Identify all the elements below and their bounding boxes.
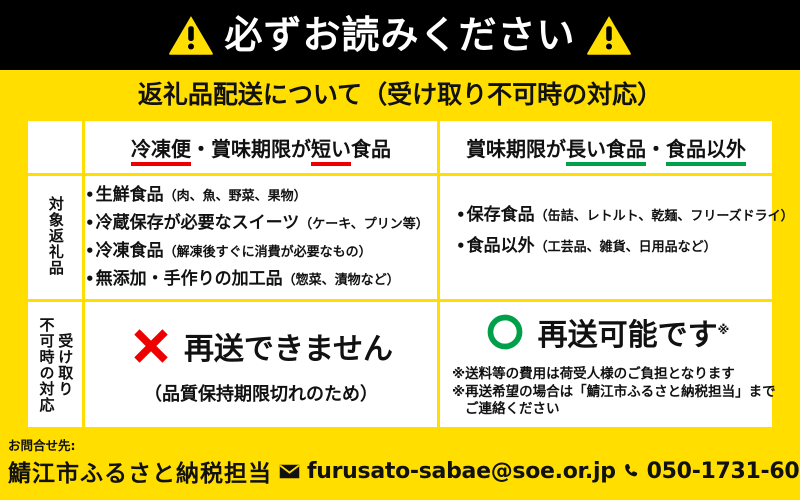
- contact-label: お問合せ先:: [8, 438, 800, 453]
- contact-details: 鯖江市ふるさと納税担当 furusato-sabae@soe.or.jp 050…: [8, 454, 800, 488]
- table-row: 受け取り 不可時の対応 再送できません （品質保持期限切れのため）: [27, 301, 774, 429]
- target-items-right-list: 保存食品（缶詰、レトルト、乾麺、フリーズドライ） 食品以外（工芸品、雑貨、日用品…: [456, 207, 772, 255]
- target-items-left-cell: 生鮮食品（肉、魚、野菜、果物） 冷蔵保存が必要なスイーツ（ケーキ、プリン等） 冷…: [84, 175, 439, 301]
- list-item-main: 冷蔵保存が必要なスイーツ: [96, 213, 300, 233]
- list-item: 冷蔵保存が必要なスイーツ（ケーキ、プリン等）: [85, 215, 437, 232]
- circle-mark-icon: [483, 310, 527, 354]
- envelope-icon: [279, 464, 300, 479]
- list-item: 無添加・手作りの加工品（惣菜、漬物など）: [85, 271, 437, 288]
- result-right-headline-text: 再送可能です: [538, 318, 718, 353]
- list-item-main: 食品以外: [467, 236, 535, 256]
- list-item-main: 無添加・手作りの加工品: [96, 269, 283, 289]
- info-table: 冷凍便・賞味期限が短い食品 賞味期限が長い食品・食品以外 対象返礼品 生鮮食品（…: [25, 118, 775, 430]
- column-header-right-seg3: ・: [646, 137, 666, 161]
- table-row: 対象返礼品 生鮮食品（肉、魚、野菜、果物） 冷蔵保存が必要なスイーツ（ケーキ、プ…: [27, 175, 774, 301]
- column-header-left-text: 冷凍便・賞味期限が短い食品: [131, 137, 391, 166]
- list-item-main: 冷凍食品: [96, 241, 164, 261]
- result-left-headline: 再送できません: [184, 324, 393, 368]
- list-item-detail: （解凍後すぐに消費が必要なもの）: [164, 245, 372, 260]
- list-item-detail: （缶詰、レトルト、乾麺、フリーズドライ）: [535, 209, 794, 224]
- sub-banner: 返礼品配送について（受け取り不可時の対応）: [0, 70, 800, 115]
- poster-root: 必ずお読みください 返礼品配送について（受け取り不可時の対応） 冷凍便・賞味期限: [0, 0, 800, 500]
- result-right-cell: 再送可能です※ ※送料等の費用は荷受人様のご負担となります ※再送希望の場合は「…: [439, 301, 774, 429]
- list-item: 生鮮食品（肉、魚、野菜、果物）: [85, 187, 437, 204]
- sub-banner-title: 返礼品配送について（受け取り不可時の対応）: [138, 75, 662, 111]
- list-item: 保存食品（缶詰、レトルト、乾麺、フリーズドライ）: [456, 207, 772, 224]
- list-item-main: 保存食品: [467, 205, 535, 225]
- corner-cell: [27, 120, 84, 175]
- result-right-headline-sup: ※: [718, 323, 730, 337]
- list-item: 食品以外（工芸品、雑貨、日用品など）: [456, 238, 772, 255]
- list-item: 冷凍食品（解凍後すぐに消費が必要なもの）: [85, 243, 437, 260]
- result-right-headline: 再送可能です※: [538, 310, 730, 354]
- row-header-unreceived-response: 受け取り 不可時の対応: [27, 301, 84, 429]
- column-header-left-seg2: ・賞味期限が: [191, 137, 311, 161]
- row-header-target-items: 対象返礼品: [27, 175, 84, 301]
- result-left-line: 再送できません: [85, 324, 437, 368]
- result-left-cell: 再送できません （品質保持期限切れのため）: [84, 301, 439, 429]
- column-header-left-seg3: 短い: [311, 137, 351, 166]
- column-header-right-seg1: 賞味期限が: [466, 137, 566, 161]
- row-header-target-items-label: 対象返礼品: [46, 196, 64, 276]
- warning-triangle-icon: [586, 14, 632, 56]
- result-right-notes: ※送料等の費用は荷受人様のご負担となります ※再送希望の場合は「鯖江市ふるさと納…: [440, 366, 772, 420]
- row-header-unreceived-response-wrap: 受け取り 不可時の対応: [28, 317, 82, 413]
- note-line: ※送料等の費用は荷受人様のご負担となります: [452, 366, 772, 384]
- contact-phone[interactable]: 050-1731-6099: [647, 459, 800, 484]
- note-line: ご連絡ください: [452, 401, 772, 419]
- cross-mark-icon: [129, 324, 173, 368]
- footer-contact: お問合せ先: 鯖江市ふるさと納税担当 furusato-sabae@soe.or…: [0, 436, 800, 500]
- column-header-left-seg4: 食品: [351, 137, 391, 161]
- column-header-left-seg1: 冷凍便: [131, 137, 191, 166]
- column-header-right-text: 賞味期限が長い食品・食品以外: [466, 137, 746, 166]
- list-item-main: 生鮮食品: [96, 185, 164, 205]
- list-item-detail: （ケーキ、プリン等）: [299, 217, 428, 232]
- result-right-line: 再送可能です※: [440, 310, 772, 354]
- column-header-right-seg2: 長い食品: [566, 137, 646, 166]
- column-header-right-seg4: 食品以外: [666, 137, 746, 166]
- column-header-left: 冷凍便・賞味期限が短い食品: [84, 120, 439, 175]
- page-title: 必ずお読みください: [224, 16, 575, 54]
- list-item-detail: （惣菜、漬物など）: [283, 273, 400, 288]
- result-left-subline: （品質保持期限切れのため）: [85, 380, 437, 406]
- note-line: ※再送希望の場合は「鯖江市ふるさと納税担当」まで: [452, 384, 772, 402]
- target-items-left-list: 生鮮食品（肉、魚、野菜、果物） 冷蔵保存が必要なスイーツ（ケーキ、プリン等） 冷…: [85, 187, 437, 288]
- row-header-unreceived-col2: 不可時の対応: [37, 317, 55, 413]
- table-header-row: 冷凍便・賞味期限が短い食品 賞味期限が長い食品・食品以外: [27, 120, 774, 175]
- warning-triangle-icon: [168, 14, 214, 56]
- target-items-right-cell: 保存食品（缶詰、レトルト、乾麺、フリーズドライ） 食品以外（工芸品、雑貨、日用品…: [439, 175, 774, 301]
- row-header-unreceived-col1: 受け取り: [56, 317, 74, 413]
- header-bar: 必ずお読みください: [0, 0, 800, 70]
- telephone-icon: [623, 462, 640, 480]
- column-header-right: 賞味期限が長い食品・食品以外: [439, 120, 774, 175]
- contact-organization: 鯖江市ふるさと納税担当: [8, 454, 272, 488]
- contact-email[interactable]: furusato-sabae@soe.or.jp: [307, 459, 616, 484]
- list-item-detail: （工芸品、雑貨、日用品など）: [535, 240, 717, 255]
- list-item-detail: （肉、魚、野菜、果物）: [164, 189, 307, 204]
